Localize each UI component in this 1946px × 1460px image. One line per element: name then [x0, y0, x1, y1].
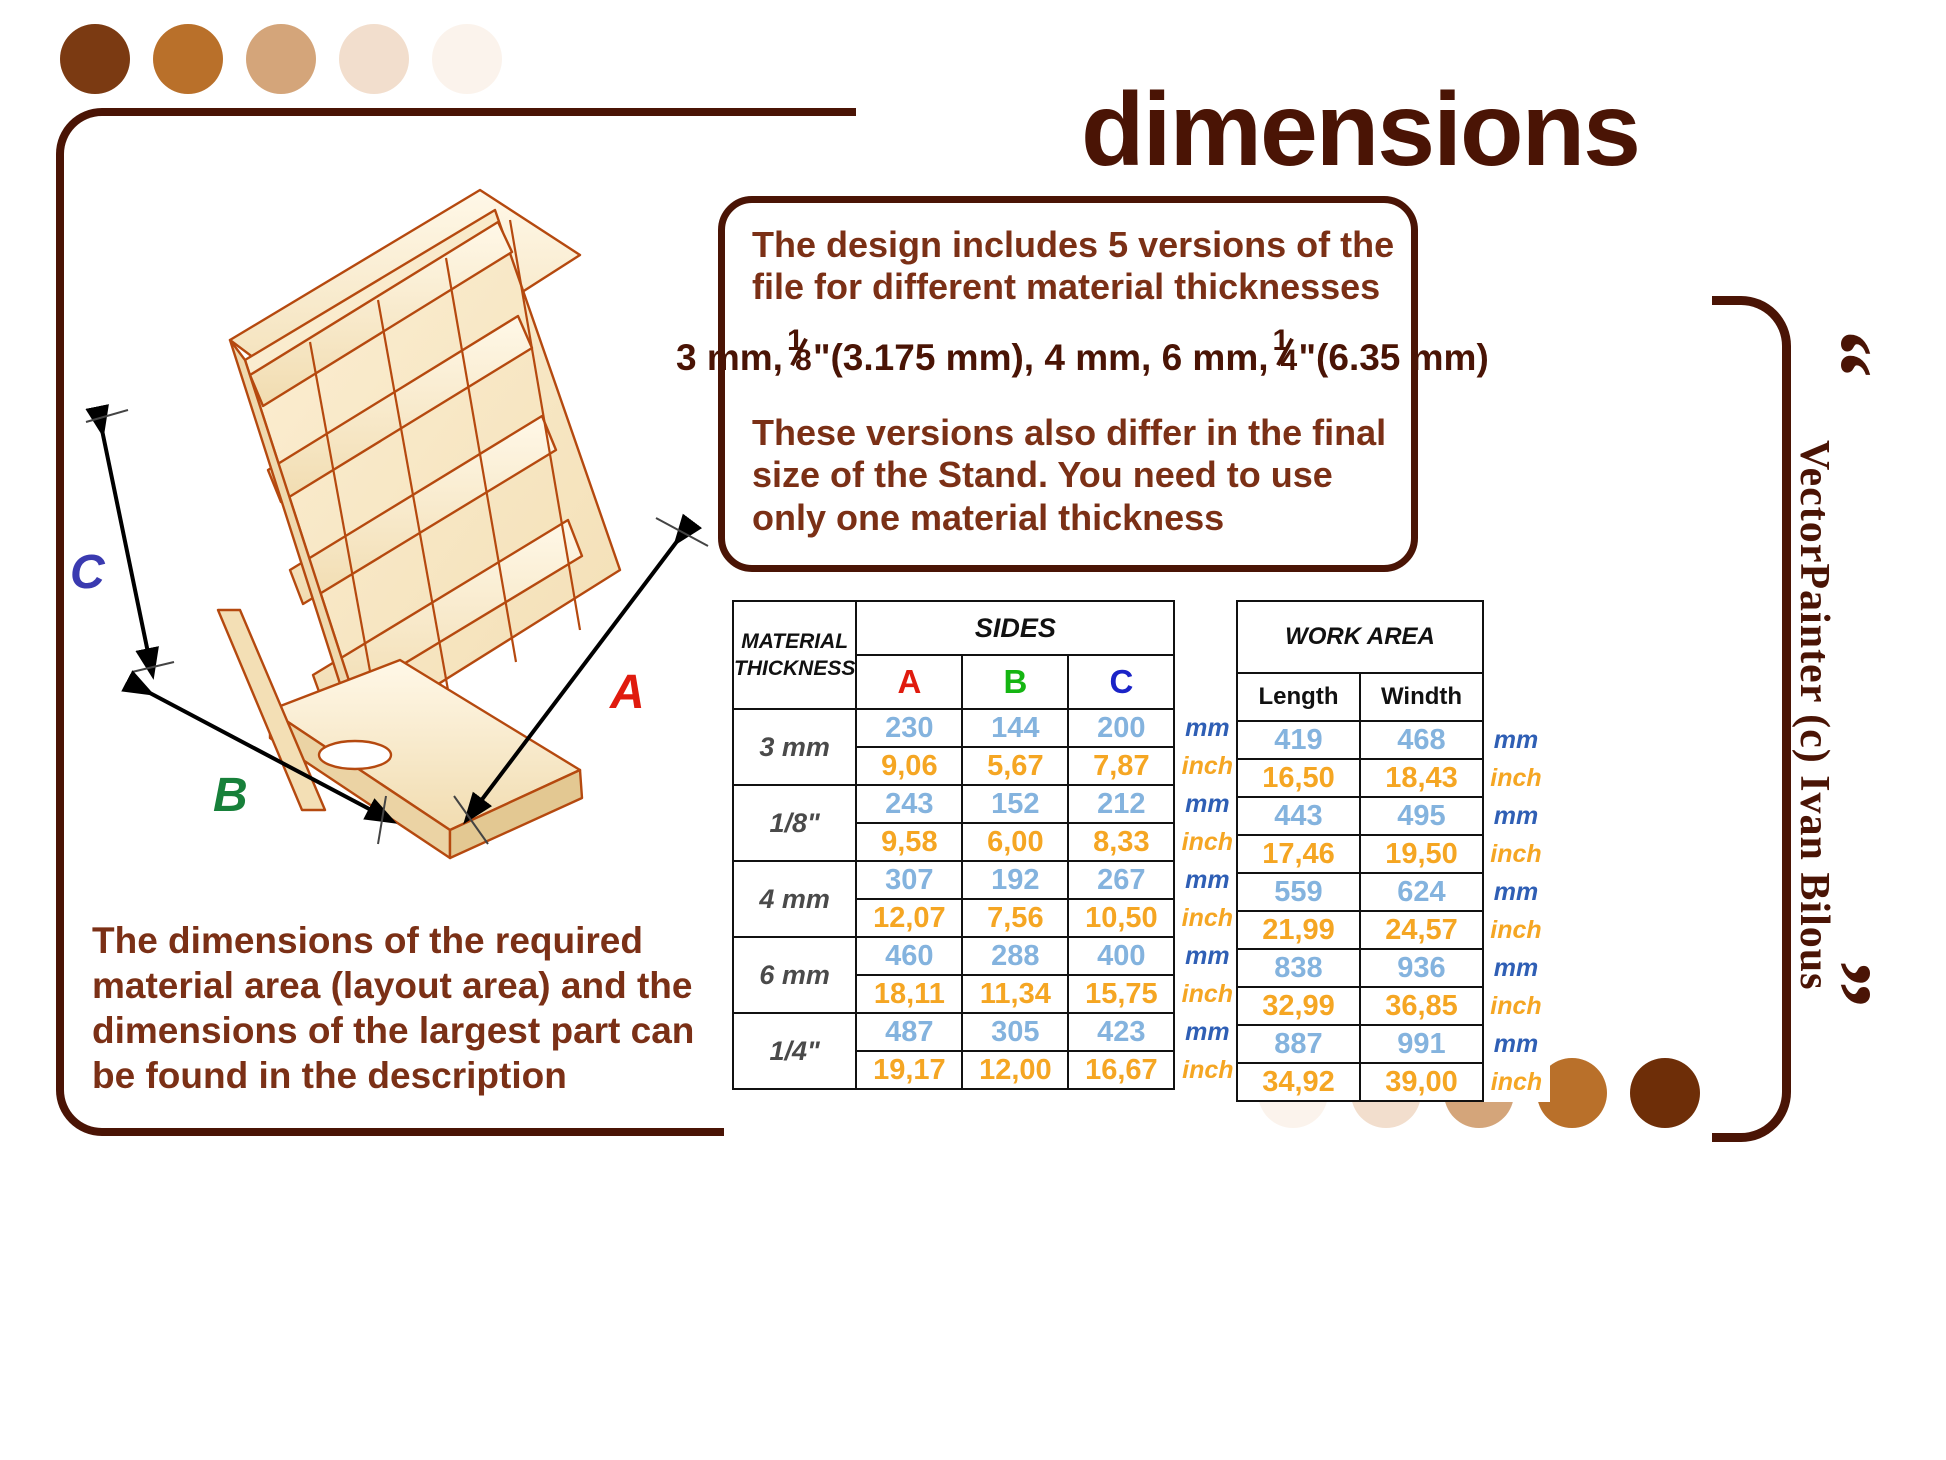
table-row: 17,4619,50inch	[1237, 835, 1549, 873]
unit-inch: inch	[1174, 823, 1240, 861]
value-mm: 400	[1068, 937, 1174, 975]
palette-swatch	[1630, 1058, 1700, 1128]
unit-inch: inch	[1483, 987, 1549, 1025]
palette-swatch	[60, 24, 130, 94]
table-row: 6 mm460288400mm	[733, 937, 1240, 975]
unit-mm: mm	[1174, 1013, 1240, 1051]
value-inch: 17,46	[1237, 835, 1360, 873]
unit-inch: inch	[1174, 975, 1240, 1013]
quote-close-icon: ”	[1790, 960, 1886, 1008]
value-inch: 7,87	[1068, 747, 1174, 785]
unit-inch: inch	[1174, 899, 1240, 937]
column-header-b: B	[962, 655, 1068, 709]
table-row: 1/8"243152212mm	[733, 785, 1240, 823]
sides-table: MATERIALTHICKNESSSIDESABC3 mm230144200mm…	[732, 600, 1241, 1090]
value-mm: 144	[962, 709, 1068, 747]
thickness-part-after2: "(6.35 mm)	[1299, 337, 1489, 378]
value-mm: 423	[1068, 1013, 1174, 1051]
unit-spacer	[1174, 601, 1240, 655]
quote-open-icon: “	[1790, 330, 1886, 378]
value-mm: 838	[1237, 949, 1360, 987]
table-row: 1/4"487305423mm	[733, 1013, 1240, 1051]
info-paragraph-1: The design includes 5 versions of the fi…	[752, 224, 1402, 309]
table-row: 34,9239,00inch	[1237, 1063, 1549, 1101]
table-row: MATERIALTHICKNESSSIDES	[733, 601, 1240, 655]
unit-mm: mm	[1174, 861, 1240, 899]
value-mm: 307	[856, 861, 962, 899]
thickness-cell: 3 mm	[733, 709, 856, 785]
value-inch: 21,99	[1237, 911, 1360, 949]
value-mm: 200	[1068, 709, 1174, 747]
table-row: 419468mm	[1237, 721, 1549, 759]
value-mm: 152	[962, 785, 1068, 823]
value-inch: 39,00	[1360, 1063, 1483, 1101]
value-mm: 624	[1360, 873, 1483, 911]
thickness-cell: 4 mm	[733, 861, 856, 937]
value-mm: 991	[1360, 1025, 1483, 1063]
value-inch: 36,85	[1360, 987, 1483, 1025]
value-mm: 495	[1360, 797, 1483, 835]
watermark-text: VectorPainter (c) Ivan Bilous	[1790, 440, 1838, 990]
palette-swatch	[246, 24, 316, 94]
value-inch: 11,34	[962, 975, 1068, 1013]
value-inch: 34,92	[1237, 1063, 1360, 1101]
value-mm: 559	[1237, 873, 1360, 911]
table-row: WORK AREA	[1237, 601, 1549, 673]
value-mm: 230	[856, 709, 962, 747]
table-row: 32,9936,85inch	[1237, 987, 1549, 1025]
value-mm: 443	[1237, 797, 1360, 835]
value-mm: 288	[962, 937, 1068, 975]
value-mm: 936	[1360, 949, 1483, 987]
bottom-note: The dimensions of the required material …	[92, 918, 732, 1099]
value-inch: 16,67	[1068, 1051, 1174, 1089]
palette-swatch	[432, 24, 502, 94]
unit-inch: inch	[1174, 747, 1240, 785]
value-mm: 887	[1237, 1025, 1360, 1063]
unit-inch: inch	[1483, 759, 1549, 797]
dimension-label-a: A	[610, 665, 645, 720]
thickness-cell: 6 mm	[733, 937, 856, 1013]
table-row: 3 mm230144200mm	[733, 709, 1240, 747]
fraction-one-eighth: 18	[783, 336, 813, 376]
unit-mm: mm	[1174, 937, 1240, 975]
dimension-label-b: B	[213, 768, 248, 823]
value-inch: 19,17	[856, 1051, 962, 1089]
value-mm: 243	[856, 785, 962, 823]
palette-top	[60, 24, 502, 94]
thickness-cell: 1/8"	[733, 785, 856, 861]
unit-spacer	[1174, 655, 1240, 709]
value-inch: 19,50	[1360, 835, 1483, 873]
value-mm: 192	[962, 861, 1068, 899]
table-row: 21,9924,57inch	[1237, 911, 1549, 949]
header-sides: SIDES	[856, 601, 1174, 655]
thickness-part-after: "(3.175 mm), 4 mm, 6 mm,	[813, 337, 1269, 378]
value-mm: 419	[1237, 721, 1360, 759]
right-decorative-bracket	[1712, 296, 1791, 1142]
dimension-label-c: C	[70, 545, 105, 600]
unit-inch: inch	[1483, 835, 1549, 873]
value-inch: 24,57	[1360, 911, 1483, 949]
value-inch: 12,07	[856, 899, 962, 937]
dimension-arrows	[56, 400, 756, 880]
unit-mm: mm	[1483, 949, 1549, 987]
unit-inch: inch	[1483, 1063, 1549, 1101]
column-header-length: Length	[1237, 673, 1360, 721]
unit-mm: mm	[1483, 873, 1549, 911]
table-row: LengthWindth	[1237, 673, 1549, 721]
work-area-table: WORK AREALengthWindth419468mm16,5018,43i…	[1236, 600, 1550, 1102]
value-inch: 7,56	[962, 899, 1068, 937]
value-mm: 267	[1068, 861, 1174, 899]
column-header-a: A	[856, 655, 962, 709]
thickness-list: 3 mm,18"(3.175 mm), 4 mm, 6 mm,14"(6.35 …	[676, 336, 1466, 379]
value-mm: 212	[1068, 785, 1174, 823]
value-inch: 18,43	[1360, 759, 1483, 797]
page-title: dimensions	[930, 78, 1790, 182]
table-row: 4 mm307192267mm	[733, 861, 1240, 899]
unit-inch: inch	[1174, 1051, 1240, 1089]
unit-mm: mm	[1174, 709, 1240, 747]
value-mm: 487	[856, 1013, 962, 1051]
value-inch: 6,00	[962, 823, 1068, 861]
value-inch: 9,58	[856, 823, 962, 861]
unit-inch: inch	[1483, 911, 1549, 949]
table-row: 443495mm	[1237, 797, 1549, 835]
value-mm: 305	[962, 1013, 1068, 1051]
left-frame-top-arm	[716, 108, 856, 116]
info-paragraph-2: These versions also differ in the final …	[752, 412, 1402, 539]
unit-mm: mm	[1483, 721, 1549, 759]
table-row: 559624mm	[1237, 873, 1549, 911]
column-header-windth: Windth	[1360, 673, 1483, 721]
value-inch: 8,33	[1068, 823, 1174, 861]
unit-spacer	[1483, 601, 1549, 673]
table-row: 887991mm	[1237, 1025, 1549, 1063]
value-inch: 16,50	[1237, 759, 1360, 797]
fraction2-denominator: 4	[1281, 344, 1298, 378]
value-inch: 9,06	[856, 747, 962, 785]
value-mm: 468	[1360, 721, 1483, 759]
unit-spacer	[1483, 673, 1549, 721]
header-material-thickness: MATERIALTHICKNESS	[733, 601, 856, 709]
value-inch: 5,67	[962, 747, 1068, 785]
column-header-c: C	[1068, 655, 1174, 709]
value-inch: 18,11	[856, 975, 962, 1013]
palette-swatch	[153, 24, 223, 94]
fraction-one-quarter: 14	[1269, 336, 1299, 376]
unit-mm: mm	[1174, 785, 1240, 823]
thickness-cell: 1/4"	[733, 1013, 856, 1089]
value-inch: 10,50	[1068, 899, 1174, 937]
table-row: 838936mm	[1237, 949, 1549, 987]
value-mm: 460	[856, 937, 962, 975]
value-inch: 12,00	[962, 1051, 1068, 1089]
value-inch: 15,75	[1068, 975, 1174, 1013]
fraction-denominator: 8	[795, 344, 812, 378]
unit-mm: mm	[1483, 1025, 1549, 1063]
unit-mm: mm	[1483, 797, 1549, 835]
header-work-area: WORK AREA	[1237, 601, 1483, 673]
table-row: 16,5018,43inch	[1237, 759, 1549, 797]
value-inch: 32,99	[1237, 987, 1360, 1025]
palette-swatch	[339, 24, 409, 94]
